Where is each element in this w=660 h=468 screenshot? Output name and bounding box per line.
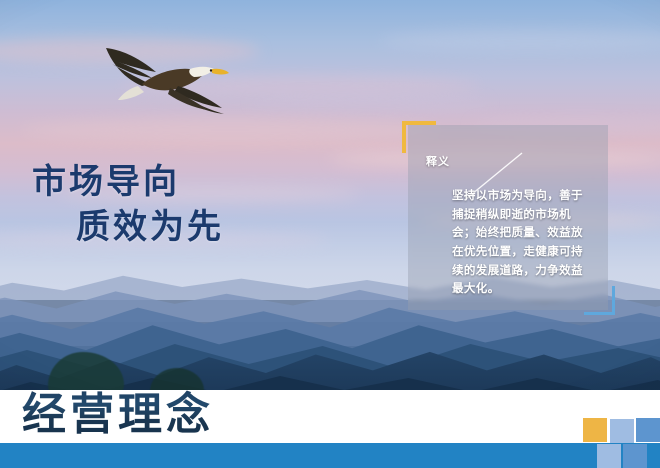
eagle-icon xyxy=(98,36,234,114)
cloud-streak-icon xyxy=(380,30,660,52)
cloud-streak-icon xyxy=(250,96,490,110)
footer-rule xyxy=(0,443,660,468)
square-medium-blue-top xyxy=(636,418,660,442)
definition-panel: 释义 坚持以市场为导向，善于捕捉稍纵即逝的市场机会；始终把质量、效益放在优先位置… xyxy=(408,125,608,310)
headline-line-1: 市场导向 xyxy=(0,160,380,205)
panel-corner-accent-bottom-right xyxy=(584,286,615,315)
square-medium-blue-bottom xyxy=(623,444,647,468)
page-title: 市场导向 质效为先 xyxy=(0,160,380,250)
headline-line-2: 质效为先 xyxy=(0,205,380,250)
definition-label: 释义 xyxy=(426,153,450,169)
panel-corner-accent-top-left xyxy=(402,121,436,153)
square-light-blue-bottom xyxy=(597,444,621,468)
square-dark-blue-bottom xyxy=(649,444,660,468)
cloud-streak-icon xyxy=(20,118,440,142)
square-light-blue-top xyxy=(610,419,634,443)
decorative-squares xyxy=(583,418,660,468)
section-title: 经营理念 xyxy=(22,387,214,443)
definition-body-text: 坚持以市场为导向，善于捕捉稍纵即逝的市场机会；始终把质量、效益放在优先位置，走健… xyxy=(452,187,594,299)
square-yellow xyxy=(583,418,607,442)
slide-canvas: 市场导向 质效为先 释义 坚持以市场为导向，善于捕捉稍纵即逝的市场机会；始终把质… xyxy=(0,0,660,468)
